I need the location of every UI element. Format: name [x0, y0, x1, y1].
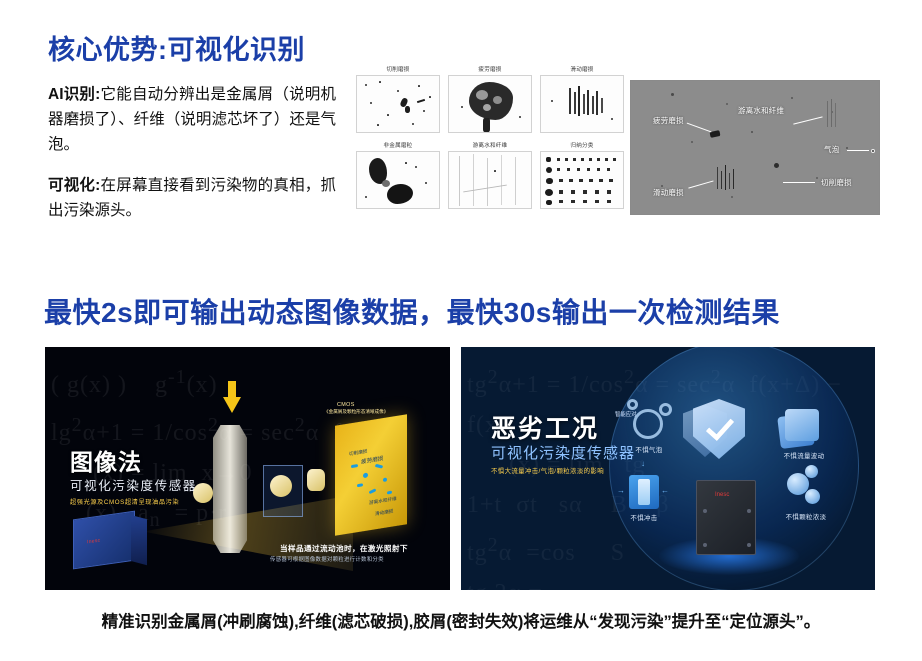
footer-caption: 精准识别金属屑(冲刷腐蚀),纤维(滤芯破损),胶屑(密封失效)将运维从“发现污染…: [0, 608, 922, 632]
right-panel-tagline: 不惧大流量冲击/气泡/颗粒浓淡的影响: [491, 466, 604, 475]
cmos-sublabel: 《金属屑及颗粒形态清晰成像》: [324, 409, 388, 415]
grid-cell-fatigue-wear: 疲劳磨损: [448, 66, 532, 133]
panel-harsh-conditions: tg2α+1 = 1/cos2α = sec2α f(x+Δ) − f(x (x…: [461, 347, 875, 590]
bubble-small-icon: [659, 403, 672, 416]
flow-cell: [213, 425, 247, 553]
sensor-device-right: Inesc: [696, 480, 756, 555]
right-panel-title: 恶劣工况: [491, 409, 599, 445]
paragraph-ai-recognition: AI识别:它能自动分辨出是金属屑（说明机器磨损了）、纤维（说明滤芯坏了）还是气泡…: [48, 82, 336, 157]
chart-card-icon: [785, 409, 819, 441]
grid-caption-0: 切削磨损: [356, 66, 440, 75]
down-arrow-icon: ↓: [641, 459, 645, 468]
grid-caption-5: 归纳分类: [540, 142, 624, 151]
paragraph-visualization: 可视化:在屏幕直接看到污染物的真相，抓出污染源头。: [48, 173, 336, 223]
grid-cell-free-water-fiber: 游离水和纤维: [448, 142, 532, 209]
right-panel-subtitle: 可视化污染度传感器: [491, 442, 635, 463]
micrograph-label-cutting: 切削磨损: [821, 177, 852, 188]
left-panel-caption-sub: 传感器可根据图像数据对颗粒进行计数和分类: [270, 555, 384, 563]
icon-label-concentration: 不惧颗粒浓淡: [771, 512, 841, 521]
grid-cell-cutting-wear: 切削磨损: [356, 66, 440, 133]
grid-cell-nonmetal-particle: 非金属磨粒: [356, 142, 440, 209]
grid-image-0: [356, 75, 440, 133]
annotated-micrograph: 疲劳磨损 游离水和纤维 气泡 滑动磨损 切削磨损: [630, 80, 880, 215]
bubble-icon: [633, 409, 663, 439]
grid-image-3: [356, 151, 440, 209]
left-arrow-icon: →: [617, 486, 625, 495]
bubble-tiny-icon: [627, 399, 638, 410]
section2-heading: 最快2s即可输出动态图像数据，最快30s输出一次检测结果: [44, 291, 780, 331]
cmos-sensor-panel: 切削磨损 疲劳磨损 游离水和纤维 滑动磨损: [335, 414, 407, 535]
particle-disc-small-icon: [805, 465, 818, 478]
filter-cartridge-icon: [629, 475, 659, 509]
section1-heading: 核心优势:可视化识别: [48, 28, 305, 67]
micrograph-label-water-fiber: 游离水和纤维: [738, 105, 784, 116]
panel-image-method: ( g(x) ) g-1(x) lg2α+1 = 1/cos2α = sec2α…: [45, 347, 450, 590]
left-panel-caption-main: 当样品通过流动池时，在激光照射下: [280, 543, 408, 554]
grid-caption-1: 疲劳磨损: [448, 66, 532, 75]
cmos-label: CMOS: [337, 402, 355, 408]
grid-image-4: [448, 151, 532, 209]
grid-image-5: [540, 151, 624, 209]
device-brand-right: Inesc: [715, 492, 729, 498]
section1-body: AI识别:它能自动分辨出是金属屑（说明机器磨损了）、纤维（说明滤芯坏了）还是气泡…: [48, 82, 336, 239]
particle-type-grid: 切削磨损 疲劳磨损: [356, 66, 624, 216]
slide-page: 核心优势:可视化识别 AI识别:它能自动分辨出是金属屑（说明机器磨损了）、纤维（…: [0, 0, 922, 661]
grid-image-1: [448, 75, 532, 133]
left-panel-subtitle: 可视化污染度传感器: [70, 475, 197, 494]
paragraph-label-ai: AI识别:: [48, 86, 100, 103]
right-panel-superscript: 智能应对: [615, 410, 637, 418]
paragraph-label-visual: 可视化:: [48, 177, 100, 194]
sensor-device-left: Inesc: [73, 511, 135, 570]
objective-lens: [270, 475, 292, 497]
icon-label-flow: 不惧流量波动: [769, 451, 839, 460]
icon-label-impact: 不惧冲击: [614, 513, 674, 522]
grid-caption-4: 游离水和纤维: [448, 142, 532, 151]
grid-cell-classification: 归纳分类: [540, 142, 624, 209]
right-arrow-icon: ←: [661, 486, 669, 495]
micrograph-label-sliding: 滑动磨损: [653, 187, 684, 198]
sample-arrow-icon: [223, 397, 241, 413]
camera-lens: [307, 469, 325, 491]
left-panel-tagline: 超强光源及CMOS超清呈现油品污染: [70, 497, 179, 506]
grid-caption-2: 滑动磨损: [540, 66, 624, 75]
section-core-advantage: 核心优势:可视化识别 AI识别:它能自动分辨出是金属屑（说明机器磨损了）、纤维（…: [0, 0, 922, 250]
device-brand-left: Inesc: [87, 537, 100, 545]
grid-caption-3: 非金属磨粒: [356, 142, 440, 151]
grid-image-2: [540, 75, 624, 133]
particle-disc-mid-icon: [805, 489, 820, 504]
grid-cell-sliding-wear: 滑动磨损: [540, 66, 624, 133]
micrograph-label-bubble: 气泡: [824, 144, 839, 155]
micrograph-label-fatigue: 疲劳磨损: [653, 115, 684, 126]
left-panel-title: 图像法: [70, 443, 142, 477]
